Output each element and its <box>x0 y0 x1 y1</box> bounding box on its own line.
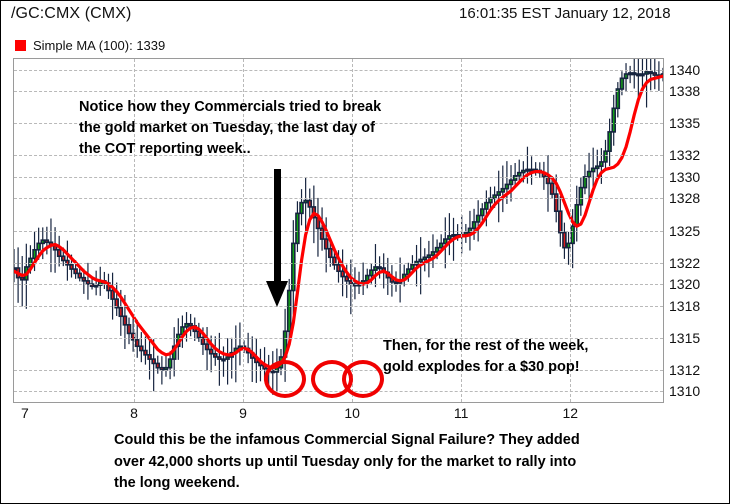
symbol-title: /GC:CMX (CMX) <box>11 5 131 23</box>
y-axis-label: 1340 <box>669 62 700 78</box>
y-axis-label: 1312 <box>669 362 700 378</box>
y-axis-labels: 1340133813351332133013281325132213201318… <box>669 58 729 403</box>
gridline-horizontal <box>14 263 663 264</box>
annotation-middle-line-2: gold explodes for a $30 pop! <box>383 357 588 378</box>
y-axis-label: 1328 <box>669 190 700 206</box>
x-axis-label: 11 <box>454 405 469 421</box>
gridline-horizontal <box>14 70 663 71</box>
legend-label: Simple MA (100): 1339 <box>33 38 165 53</box>
arrow-shaft <box>274 169 281 287</box>
gridline-horizontal <box>14 231 663 232</box>
gridline-horizontal <box>14 198 663 199</box>
legend: Simple MA (100): 1339 <box>15 38 165 53</box>
x-axis-label: 8 <box>130 405 138 421</box>
highlight-circle-low-probe-3 <box>342 360 384 398</box>
caption-line-3: the long weekend. <box>114 473 580 495</box>
caption-line-1: Could this be the infamous Commercial Si… <box>114 430 580 452</box>
y-axis-label: 1338 <box>669 83 700 99</box>
quote-timestamp: 16:01:35 EST January 12, 2018 <box>459 5 671 22</box>
y-axis-label: 1318 <box>669 298 700 314</box>
x-axis-label: 12 <box>562 405 578 421</box>
chart-caption: Could this be the infamous Commercial Si… <box>114 430 580 495</box>
x-axis-label: 7 <box>21 405 29 421</box>
annotation-middle: Then, for the rest of the week, gold exp… <box>383 336 588 378</box>
annotation-top-line-1: Notice how they Commercials tried to bre… <box>79 97 381 118</box>
annotation-arrow-icon <box>266 169 288 309</box>
legend-swatch-icon <box>15 40 26 51</box>
annotation-top-line-3: the COT reporting week.. <box>79 139 381 160</box>
annotation-top: Notice how they Commercials tried to bre… <box>79 97 381 160</box>
annotation-middle-line-1: Then, for the rest of the week, <box>383 336 588 357</box>
x-axis-label: 9 <box>239 405 247 421</box>
y-axis-label: 1330 <box>669 169 700 185</box>
gridline-horizontal <box>14 177 663 178</box>
y-axis-label: 1335 <box>669 115 700 131</box>
gridline-horizontal <box>14 91 663 92</box>
caption-line-2: over 42,000 shorts up until Tuesday only… <box>114 452 580 474</box>
x-axis-labels: 789101112 <box>13 405 664 429</box>
y-axis-label: 1332 <box>669 147 700 163</box>
y-axis-label: 1315 <box>669 330 700 346</box>
y-axis-label: 1322 <box>669 255 700 271</box>
arrow-head <box>266 281 288 307</box>
annotation-top-line-2: the gold market on Tuesday, the last day… <box>79 118 381 139</box>
y-axis-label: 1325 <box>669 223 700 239</box>
y-axis-label: 1310 <box>669 383 700 399</box>
y-axis-label: 1320 <box>669 276 700 292</box>
gridline-horizontal <box>14 284 663 285</box>
gridline-horizontal <box>14 306 663 307</box>
chart-screenshot: /GC:CMX (CMX) 16:01:35 EST January 12, 2… <box>1 1 729 503</box>
x-axis-label: 10 <box>344 405 360 421</box>
